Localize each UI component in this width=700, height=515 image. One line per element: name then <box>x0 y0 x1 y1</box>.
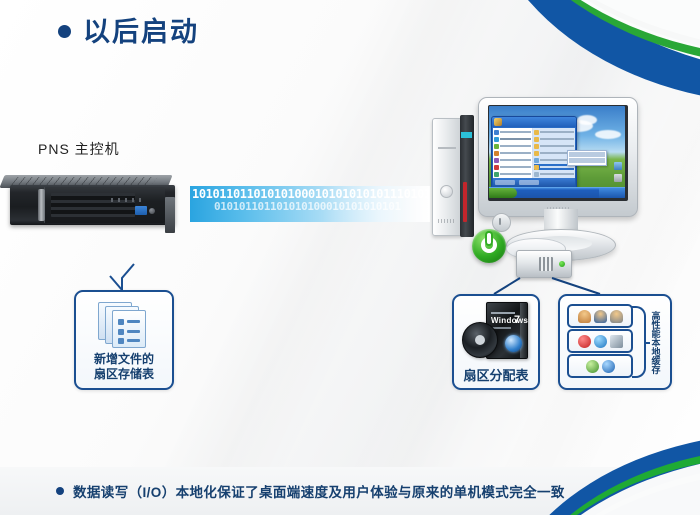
callout-new-files: 新增文件的 扇区存储表 <box>74 290 174 390</box>
windows-xp-desktop <box>489 106 625 198</box>
start-menu-body <box>493 128 575 178</box>
list-item[interactable] <box>534 129 574 135</box>
list-item[interactable] <box>494 136 531 142</box>
callout-cache: 高性能本地缓存 <box>558 294 672 390</box>
program-icon <box>494 130 499 135</box>
folder-icon <box>534 137 539 142</box>
curly-brace-icon <box>632 306 646 378</box>
submenu-item[interactable] <box>569 158 605 163</box>
connector-to-sector-table <box>494 278 520 294</box>
windows-os-icon <box>602 360 615 373</box>
title-label: 以后启动 <box>83 10 199 49</box>
callout-sector-table: Windows 7 扇区分配表 <box>452 294 540 390</box>
folder-icon <box>534 165 539 170</box>
list-item[interactable] <box>534 171 574 177</box>
users-group-icon <box>610 310 623 323</box>
callout-pointer-new-files <box>122 264 134 290</box>
footer-label: 数据读写（I/O）本地化保证了桌面端速度及用户体验与原来的单机模式完全一致 <box>73 481 565 501</box>
tower-accent-teal <box>461 132 472 138</box>
server-chassis <box>10 185 175 225</box>
start-menu-footer[interactable] <box>493 178 575 187</box>
list-item[interactable] <box>494 171 531 177</box>
cloud-shape <box>577 115 597 125</box>
tower-optical-slot <box>438 147 456 149</box>
callout-sector-table-caption: 扇区分配表 <box>454 368 538 384</box>
windows-os-icon <box>586 360 599 373</box>
program-icon <box>494 172 499 177</box>
os-row <box>567 354 633 378</box>
caption-line-1: 新增文件的 <box>76 352 172 367</box>
apps-row <box>567 329 633 353</box>
cache-vertical-label: 高性能本地缓存 <box>648 304 662 380</box>
start-submenu[interactable] <box>567 150 607 166</box>
folder-icon <box>534 151 539 156</box>
list-item[interactable] <box>494 143 531 149</box>
server-power-button <box>149 208 155 214</box>
server-badge-icon <box>135 206 147 215</box>
box-top-text <box>491 312 515 314</box>
list-item[interactable] <box>494 129 531 135</box>
installation-cd-icon <box>462 322 498 358</box>
program-icon <box>494 165 499 170</box>
server-label: PNS 主控机 <box>38 139 120 159</box>
folder-icon <box>534 158 539 163</box>
server-drive-slots <box>51 193 135 217</box>
list-item[interactable] <box>494 150 531 156</box>
windows-7-box-and-cd-icon: Windows 7 <box>462 302 532 360</box>
footer-bullet-icon <box>56 487 64 495</box>
tower-brand-mark <box>438 219 456 223</box>
desktop-icon[interactable] <box>614 174 622 182</box>
binary-data-stream: 10101101101010100010101010101110101 0101… <box>190 186 430 222</box>
hdd-grill <box>539 257 553 271</box>
callout-pointer-new-files-b <box>110 276 122 290</box>
shutdown-button[interactable] <box>519 180 539 185</box>
cloud-shape <box>595 130 621 139</box>
caption-line-2: 扇区存储表 <box>76 367 172 382</box>
desktop-icon[interactable] <box>614 162 622 170</box>
browser-icon <box>594 335 607 348</box>
list-item[interactable] <box>534 136 574 142</box>
list-item[interactable] <box>534 143 574 149</box>
hdd-enclosure <box>516 250 572 278</box>
avatar <box>494 118 502 126</box>
folder-icon <box>534 144 539 149</box>
list-item[interactable] <box>494 164 531 170</box>
stacked-documents-icon <box>98 302 150 346</box>
start-menu-header <box>492 117 576 127</box>
pc-tower-icon: » <box>432 118 476 238</box>
folder-icon <box>534 130 539 135</box>
hdd-activity-led-icon <box>559 261 565 267</box>
box-title-label: Windows <box>491 316 528 325</box>
list-item[interactable] <box>494 157 531 163</box>
slide: 以后启动 PNS 主控机 101011011010101000101010101… <box>0 0 700 515</box>
tower-accent-red <box>463 182 467 222</box>
users-group-icon <box>578 310 591 323</box>
page-title: 以后启动 <box>58 10 199 49</box>
box-version-label: 7 <box>514 314 520 326</box>
stream-fade-overlay <box>190 186 430 222</box>
tower-power-knob <box>440 185 453 198</box>
rack-server-icon <box>0 175 178 225</box>
settings-icon <box>534 172 539 177</box>
server-front-face <box>44 187 165 223</box>
server-right-cap <box>165 197 175 233</box>
program-icon <box>494 151 499 156</box>
program-icon <box>494 137 499 142</box>
system-tray[interactable] <box>599 188 625 198</box>
document-front <box>112 310 146 348</box>
start-button[interactable] <box>489 188 517 198</box>
users-group-icon <box>594 310 607 323</box>
callout-new-files-caption: 新增文件的 扇区存储表 <box>76 352 172 382</box>
green-power-button-icon <box>472 229 506 263</box>
submenu-item[interactable] <box>569 152 605 157</box>
hard-disk-icon <box>508 244 570 278</box>
logoff-button[interactable] <box>495 180 515 185</box>
server-led-strip <box>111 198 143 202</box>
footer-note: 数据读写（I/O）本地化保证了桌面端速度及用户体验与原来的单机模式完全一致 <box>56 481 565 501</box>
start-menu[interactable] <box>491 116 577 188</box>
server-handle <box>38 189 45 221</box>
box-spine <box>520 303 527 358</box>
connector-to-cache <box>552 278 600 294</box>
start-menu-programs[interactable] <box>493 128 533 178</box>
taskbar[interactable] <box>489 187 625 198</box>
windows-orb-icon <box>505 335 522 352</box>
program-icon <box>494 144 499 149</box>
editor-icon <box>610 335 623 348</box>
program-icon <box>494 158 499 163</box>
antivirus-icon <box>578 335 591 348</box>
users-row <box>567 304 633 328</box>
title-bullet-icon <box>58 25 71 38</box>
